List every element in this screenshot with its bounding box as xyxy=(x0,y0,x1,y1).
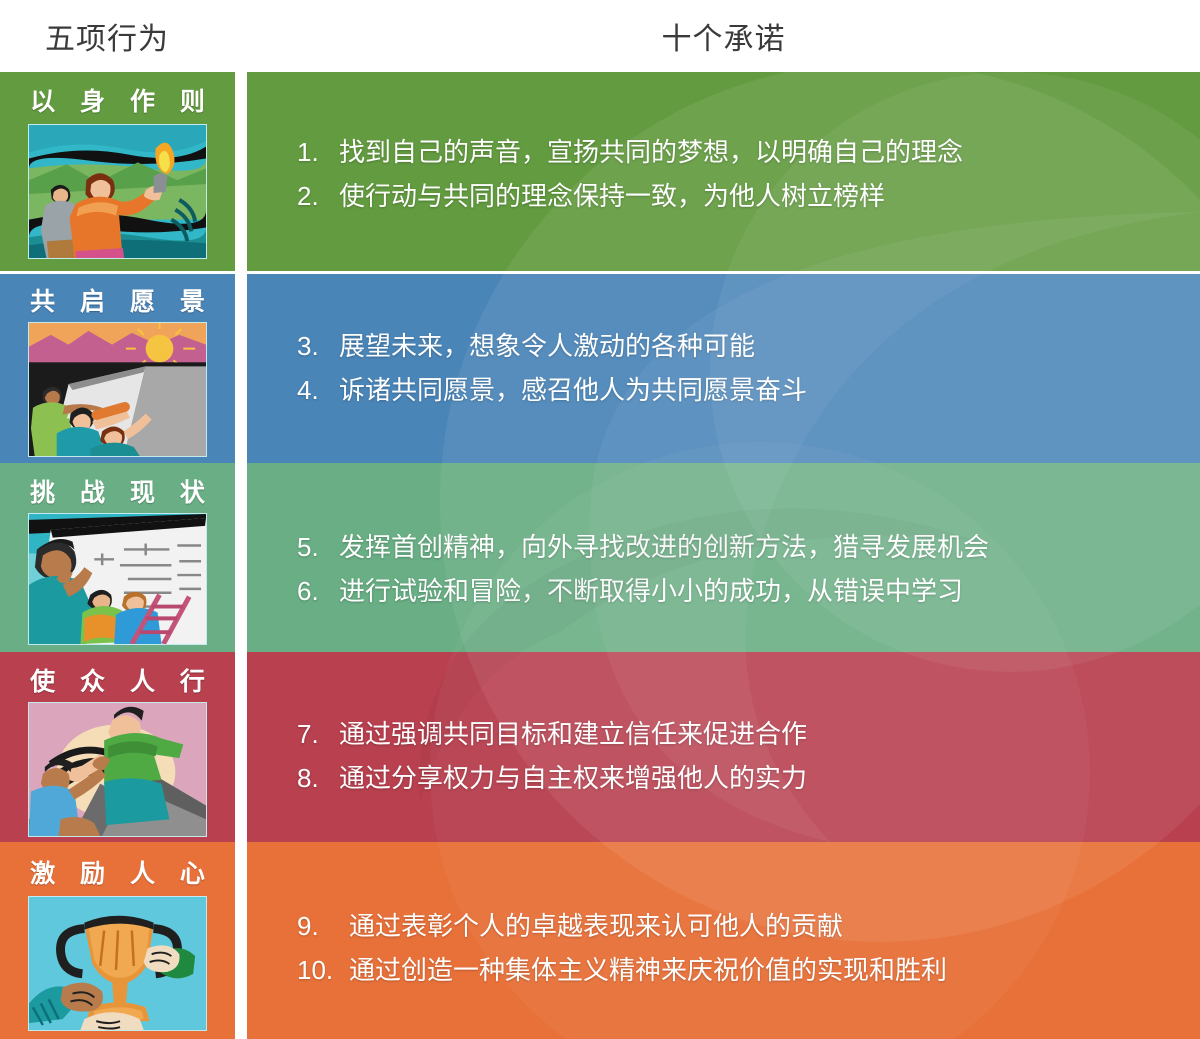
commitments-cell[interactable]: 1. 找到自己的声音，宣扬共同的梦想，以明确自己的理念 2. 使行动与共同的理念… xyxy=(247,72,1200,271)
commitments-cell[interactable]: 7. 通过强调共同目标和建立信任来促进合作 8. 通过分享权力与自主权来增强他人… xyxy=(247,652,1200,842)
wall-ladder-illustration xyxy=(28,513,207,645)
commitment-number: 7. xyxy=(297,712,335,756)
behavior-title: 激 励 人 心 xyxy=(0,854,235,890)
table-row: 激 励 人 心 xyxy=(0,842,1200,1039)
torch-bearer-illustration xyxy=(28,124,207,259)
commitment-text: 发挥首创精神，向外寻找改进的创新方法，猎寻发展机会 xyxy=(339,532,989,562)
commitment-text: 通过创造一种集体主义精神来庆祝价值的实现和胜利 xyxy=(349,955,947,985)
commitment-number: 10. xyxy=(297,948,345,992)
commitment-text: 展望未来，想象令人激动的各种可能 xyxy=(339,331,755,361)
column-header-commitments: 十个承诺 xyxy=(247,14,1200,58)
behavior-cell[interactable]: 使 众 人 行 xyxy=(0,652,235,842)
commitment-number: 3. xyxy=(297,324,335,368)
behavior-cell[interactable]: 共 启 愿 景 xyxy=(0,274,235,463)
commitment-text: 使行动与共同的理念保持一致，为他人树立榜样 xyxy=(339,181,885,211)
behavior-title: 共 启 愿 景 xyxy=(0,282,235,318)
commitment-list: 1. 找到自己的声音，宣扬共同的梦想，以明确自己的理念 2. 使行动与共同的理念… xyxy=(297,130,1180,218)
telescope-sunrise-illustration xyxy=(28,322,207,457)
commitment-number: 2. xyxy=(297,174,335,218)
behavior-cell[interactable]: 挑 战 现 状 xyxy=(0,463,235,652)
commitment-text: 找到自己的声音，宣扬共同的梦想，以明确自己的理念 xyxy=(339,137,963,167)
list-item: 1. 找到自己的声音，宣扬共同的梦想，以明确自己的理念 xyxy=(297,130,1180,174)
table-row: 以 身 作 则 xyxy=(0,72,1200,271)
commitment-text: 通过表彰个人的卓越表现来认可他人的贡献 xyxy=(349,911,843,941)
commitment-text: 通过分享权力与自主权来增强他人的实力 xyxy=(339,763,807,793)
behavior-title: 挑 战 现 状 xyxy=(0,473,235,509)
list-item: 8. 通过分享权力与自主权来增强他人的实力 xyxy=(297,756,1180,800)
behavior-cell[interactable]: 激 励 人 心 xyxy=(0,842,235,1039)
commitment-number: 4. xyxy=(297,368,335,412)
trophy-hands-illustration xyxy=(28,896,207,1031)
commitments-cell[interactable]: 3. 展望未来，想象令人激动的各种可能 4. 诉诸共同愿景，感召他人为共同愿景奋… xyxy=(247,274,1200,463)
page-header: 五项行为 十个承诺 xyxy=(0,0,1200,72)
table-row: 共 启 愿 景 xyxy=(0,274,1200,463)
commitment-text: 进行试验和冒险，不断取得小小的成功，从错误中学习 xyxy=(339,576,963,606)
commitment-text: 诉诸共同愿景，感召他人为共同愿景奋斗 xyxy=(339,375,807,405)
commitment-number: 1. xyxy=(297,130,335,174)
commitment-number: 6. xyxy=(297,569,335,613)
leadership-table: 以 身 作 则 xyxy=(0,72,1200,1039)
commitment-number: 9. xyxy=(297,904,345,948)
list-item: 7. 通过强调共同目标和建立信任来促进合作 xyxy=(297,712,1180,756)
commitment-list: 7. 通过强调共同目标和建立信任来促进合作 8. 通过分享权力与自主权来增强他人… xyxy=(297,712,1180,800)
table-row: 使 众 人 行 xyxy=(0,652,1200,842)
commitment-list: 9. 通过表彰个人的卓越表现来认可他人的贡献 10. 通过创造一种集体主义精神来… xyxy=(297,904,1180,992)
helping-hand-climb-illustration xyxy=(28,702,207,837)
commitments-cell[interactable]: 5. 发挥首创精神，向外寻找改进的创新方法，猎寻发展机会 6. 进行试验和冒险，… xyxy=(247,463,1200,652)
list-item: 10. 通过创造一种集体主义精神来庆祝价值的实现和胜利 xyxy=(297,948,1180,992)
list-item: 3. 展望未来，想象令人激动的各种可能 xyxy=(297,324,1180,368)
column-header-behaviors: 五项行为 xyxy=(45,14,169,58)
behavior-title: 以 身 作 则 xyxy=(0,82,235,118)
commitment-list: 5. 发挥首创精神，向外寻找改进的创新方法，猎寻发展机会 6. 进行试验和冒险，… xyxy=(297,525,1180,613)
commitment-list: 3. 展望未来，想象令人激动的各种可能 4. 诉诸共同愿景，感召他人为共同愿景奋… xyxy=(297,324,1180,412)
commitments-cell[interactable]: 9. 通过表彰个人的卓越表现来认可他人的贡献 10. 通过创造一种集体主义精神来… xyxy=(247,842,1200,1039)
list-item: 5. 发挥首创精神，向外寻找改进的创新方法，猎寻发展机会 xyxy=(297,525,1180,569)
table-row: 挑 战 现 状 xyxy=(0,463,1200,652)
behavior-cell[interactable]: 以 身 作 则 xyxy=(0,72,235,271)
commitment-number: 8. xyxy=(297,756,335,800)
list-item: 6. 进行试验和冒险，不断取得小小的成功，从错误中学习 xyxy=(297,569,1180,613)
commitment-text: 通过强调共同目标和建立信任来促进合作 xyxy=(339,719,807,749)
list-item: 9. 通过表彰个人的卓越表现来认可他人的贡献 xyxy=(297,904,1180,948)
list-item: 2. 使行动与共同的理念保持一致，为他人树立榜样 xyxy=(297,174,1180,218)
list-item: 4. 诉诸共同愿景，感召他人为共同愿景奋斗 xyxy=(297,368,1180,412)
behavior-title: 使 众 人 行 xyxy=(0,662,235,698)
commitment-number: 5. xyxy=(297,525,335,569)
